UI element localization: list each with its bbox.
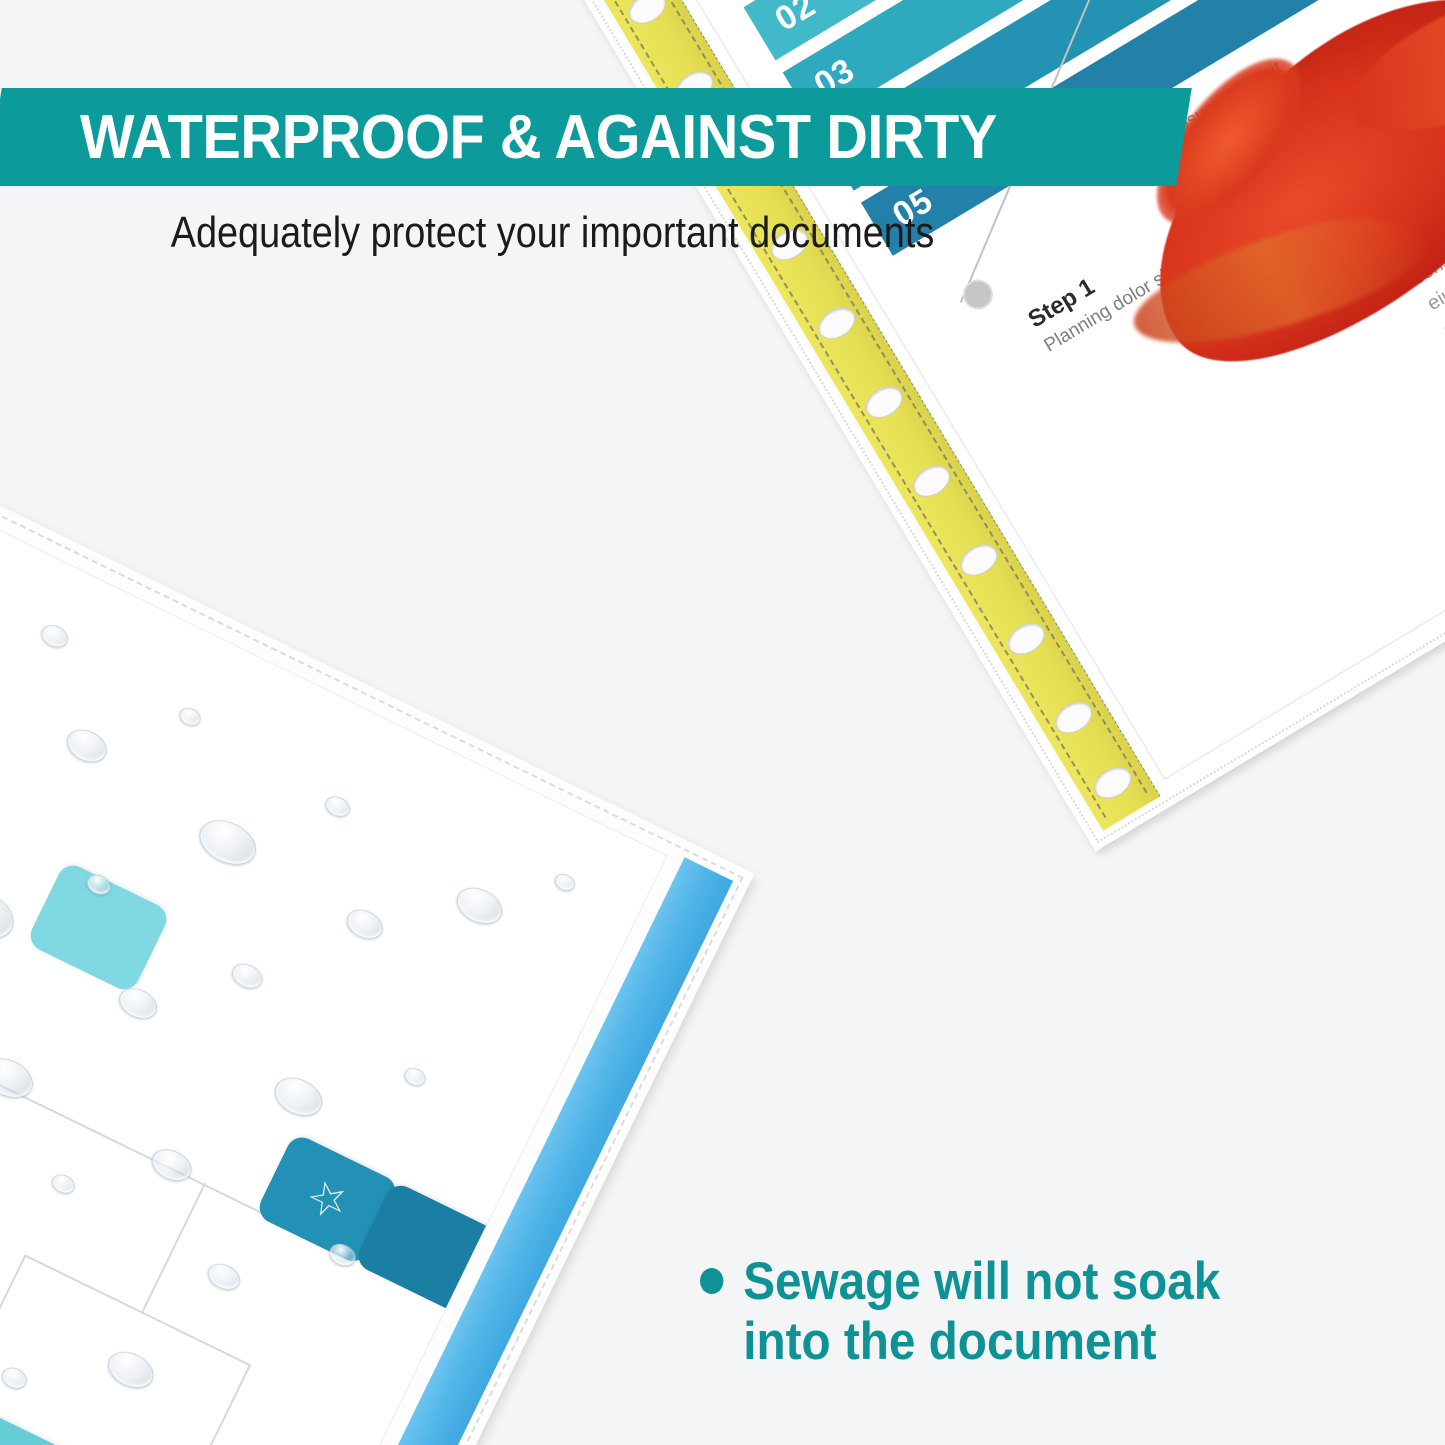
subtitle: Adequately protect your important docume… [77, 208, 1027, 258]
connector [179, 1364, 251, 1445]
bar-label: 02 [768, 0, 822, 39]
left-page: Lorem ipsum dolor sit Lorem ipsum dolor … [0, 359, 668, 1445]
infographic-body-text: Lorem ipsum dolor sit amet, consectetur … [1391, 71, 1445, 344]
chip-2 [0, 1411, 92, 1445]
header-banner: WATERPROOF & AGAINST DIRTY [0, 88, 1192, 186]
chip-5 [25, 860, 171, 994]
connector [26, 1255, 252, 1366]
bullet-icon [700, 1268, 723, 1294]
product-marketing-image: 01 02 03 04 05 [0, 0, 1445, 1445]
left-sleeve-body: Lorem ipsum dolor sit Lorem ipsum dolor … [0, 330, 755, 1445]
flow-node [957, 274, 998, 315]
caption-line-1: Sewage will not soak [743, 1252, 1220, 1311]
caption-line-2: into the document [743, 1312, 1330, 1372]
connector [0, 1254, 27, 1399]
page-title: WATERPROOF & AGAINST DIRTY [80, 102, 997, 173]
step-label-1: Step 1 Planning dolor sit amet [1024, 202, 1233, 358]
left-document-sleeve: Lorem ipsum dolor sit Lorem ipsum dolor … [0, 330, 755, 1445]
feature-caption: Sewage will not soak into the document [700, 1252, 1330, 1373]
connector [141, 1183, 206, 1314]
star-icon: ☆ [299, 1171, 356, 1230]
